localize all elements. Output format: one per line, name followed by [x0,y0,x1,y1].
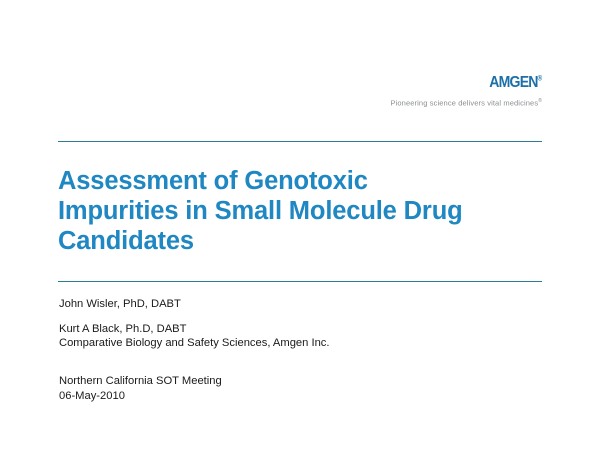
amgen-tagline: Pioneering science delivers vital medici… [58,99,542,108]
divider-rule-top [58,141,542,142]
author-affiliation: Comparative Biology and Safety Sciences,… [59,336,330,351]
author-block: John Wisler, PhD, DABT Kurt A Black, Ph.… [59,297,330,351]
title-slide: AMGEN® Pioneering science delivers vital… [0,0,600,464]
meeting-block: Northern California SOT Meeting 06-May-2… [59,374,222,403]
registered-trademark-icon: ® [537,76,542,83]
amgen-wordmark-text: AMGEN [489,74,537,91]
author-line-secondary: Kurt A Black, Ph.D, DABT [59,322,330,337]
page-title: Assessment of Genotoxic Impurities in Sm… [58,166,550,256]
page-title-line-1: Assessment of Genotoxic [58,166,550,196]
amgen-tagline-text: Pioneering science delivers vital medici… [390,99,538,108]
tagline-registered-trademark-icon: ® [538,98,542,104]
meeting-name: Northern California SOT Meeting [59,374,222,389]
meeting-date: 06-May-2010 [59,389,222,404]
amgen-wordmark-logo: AMGEN® [489,75,542,91]
author-block-spacer [59,312,330,322]
divider-rule-bottom [58,281,542,282]
amgen-logo-block: AMGEN® Pioneering science delivers vital… [58,74,542,108]
author-line-primary: John Wisler, PhD, DABT [59,297,330,312]
page-title-line-3: Candidates [58,226,550,256]
page-title-line-2: Impurities in Small Molecule Drug [58,196,550,226]
